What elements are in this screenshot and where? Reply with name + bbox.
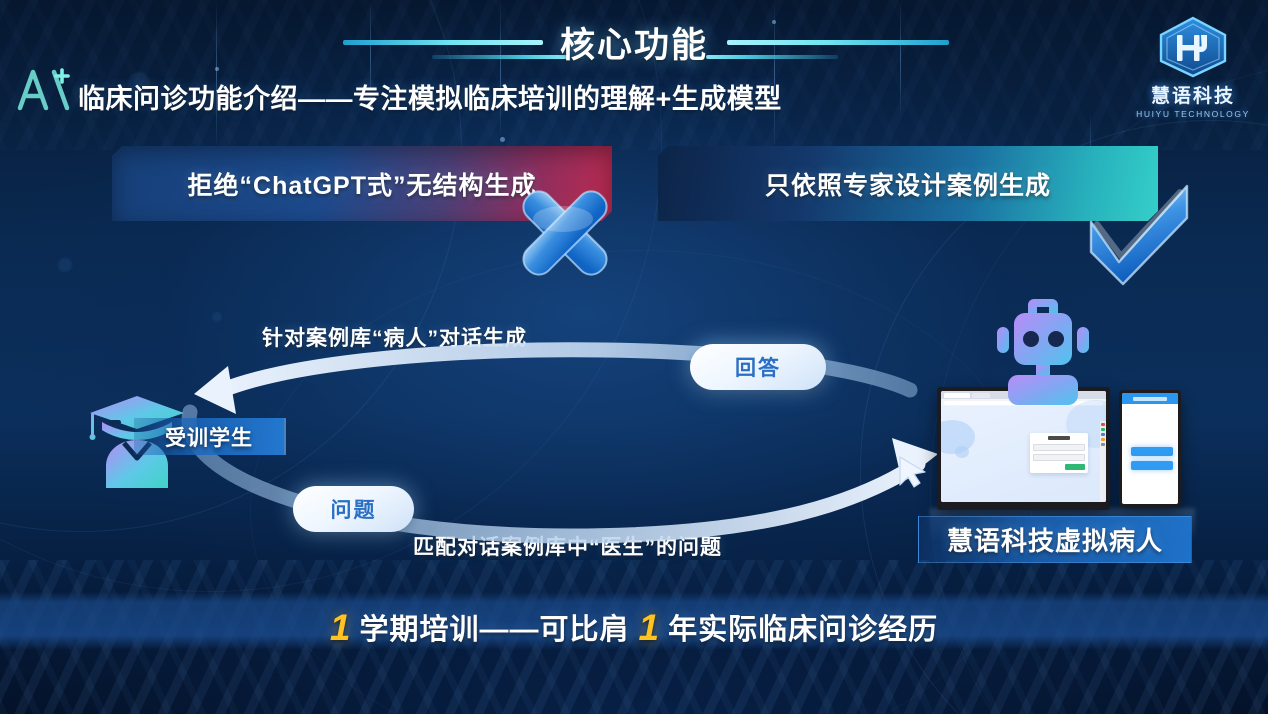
rail-icon — [1101, 423, 1105, 426]
bg-bokeh — [212, 312, 222, 322]
pill-question[interactable]: 问题 — [293, 486, 414, 532]
footer-text-second: 年实际临床问诊经历 — [668, 606, 938, 648]
slide-canvas: 核心功能 临床问诊功能介绍——专注模拟临床培训的理解+生成模型 — [0, 0, 1268, 714]
login-submit-button — [1065, 464, 1085, 470]
rail-icon — [1101, 428, 1105, 431]
banner-right-text: 只依照专家设计案例生成 — [765, 166, 1051, 202]
page-blob — [955, 446, 969, 458]
hexagon-monogram-icon — [1156, 16, 1230, 78]
footer-statement: 1 学期培训——可比肩 1 年实际临床问诊经历 — [0, 604, 1268, 650]
rail-icon — [1101, 443, 1105, 446]
pill-answer-label: 回答 — [735, 352, 781, 382]
login-field — [1033, 444, 1085, 451]
student-label-text: 受训学生 — [165, 422, 253, 452]
footer-number-second: 1 — [639, 609, 660, 646]
footer-text-first: 学期培训——可比肩 — [359, 606, 629, 648]
login-card-title — [1048, 436, 1070, 440]
phone-app-header — [1122, 393, 1178, 404]
brand-logo: 慧语科技 HUIYU TECHNOLOGY — [1132, 16, 1254, 112]
student-label: 受训学生 — [134, 418, 286, 455]
banner-corner — [656, 144, 684, 156]
virtual-patient-label-text: 慧语科技虚拟病人 — [947, 521, 1163, 558]
virtual-patient-label: 慧语科技虚拟病人 — [918, 516, 1192, 563]
pill-question-label: 问题 — [331, 494, 377, 524]
browser-sidebar-rail — [1100, 421, 1106, 502]
bg-dot — [500, 137, 505, 142]
rail-icon — [1101, 433, 1105, 436]
phone-header-title — [1133, 397, 1167, 401]
phone-mockup — [1119, 390, 1181, 507]
phone-screen — [1122, 393, 1178, 504]
page-title: 核心功能 — [0, 17, 1268, 68]
rail-icon — [1101, 438, 1105, 441]
phone-action-button — [1131, 447, 1173, 456]
phone-body — [1119, 390, 1181, 507]
browser-viewport — [941, 406, 1106, 502]
brand-name-cn: 慧语科技 — [1132, 81, 1254, 108]
login-card — [1030, 433, 1088, 473]
ai-plus-icon — [10, 62, 76, 114]
page-subtitle: 临床问诊功能介绍——专注模拟临床培训的理解+生成模型 — [78, 77, 782, 116]
robot-icon — [988, 295, 1098, 410]
check-mark-icon — [1075, 178, 1205, 288]
login-field — [1033, 454, 1085, 461]
cursor-arrow-icon — [898, 455, 928, 489]
brand-name-en: HUIYU TECHNOLOGY — [1132, 109, 1254, 119]
banner-left-text: 拒绝“ChatGPT式”无结构生成 — [188, 166, 537, 202]
browser-tab — [944, 393, 970, 398]
bg-bokeh — [58, 258, 72, 272]
pill-answer[interactable]: 回答 — [690, 344, 826, 390]
cross-mark-icon — [500, 178, 630, 288]
phone-action-button — [1131, 461, 1173, 470]
footer-number-first: 1 — [330, 609, 351, 646]
banner-corner — [110, 144, 138, 156]
